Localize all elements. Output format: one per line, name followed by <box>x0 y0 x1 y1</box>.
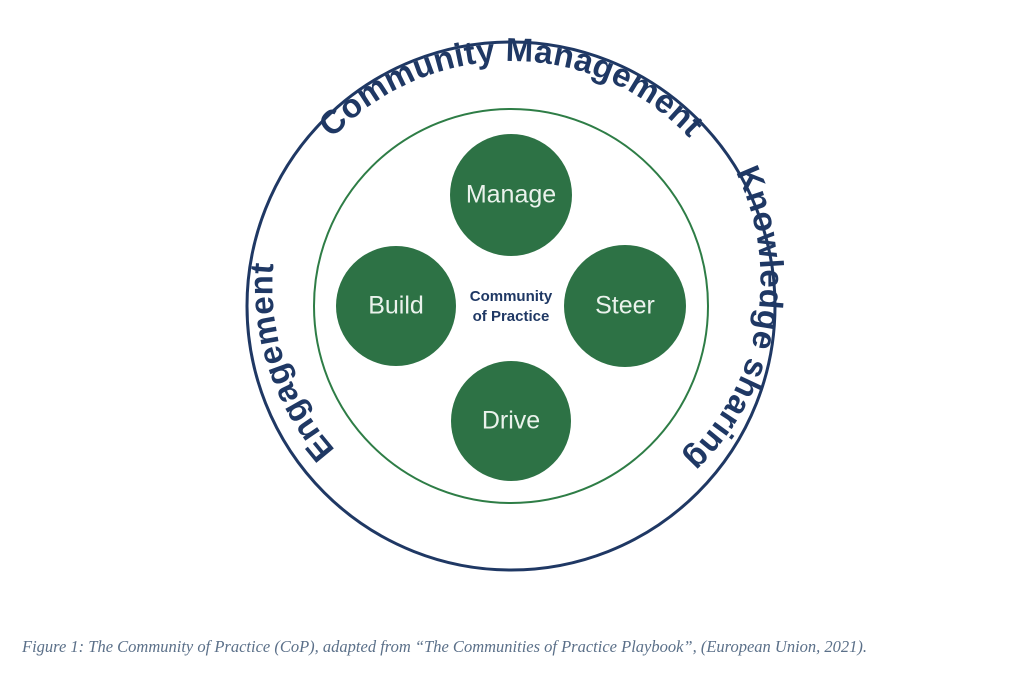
figure-container: Community Management Knowledge sharing E… <box>0 0 1024 675</box>
lobe-steer-label: Steer <box>595 292 655 320</box>
figure-caption: Figure 1: The Community of Practice (CoP… <box>22 636 1012 658</box>
lobe-build-label: Build <box>368 292 424 320</box>
ring-label-knowledge-sharing-text: Knowledge sharing <box>678 160 790 479</box>
ring-label-community-management-text: Community Management <box>311 31 711 144</box>
lobe-drive[interactable]: Drive <box>451 361 571 481</box>
center-label-line-2: of Practice <box>473 308 550 325</box>
lobe-manage[interactable]: Manage <box>450 134 572 256</box>
center-label-line-1: Community <box>470 288 553 305</box>
center-label-group: Community of Practice <box>470 288 553 325</box>
cop-diagram: Community Management Knowledge sharing E… <box>0 0 1024 675</box>
lobe-drive-label: Drive <box>482 407 540 435</box>
ring-label-community-management: Community Management <box>311 31 711 144</box>
ring-label-engagement: Engagement <box>242 261 340 469</box>
lobe-build[interactable]: Build <box>336 246 456 366</box>
lobe-manage-label: Manage <box>466 181 556 209</box>
lobe-steer[interactable]: Steer <box>564 245 686 367</box>
ring-label-knowledge-sharing: Knowledge sharing <box>678 160 790 479</box>
ring-label-engagement-text: Engagement <box>242 261 340 469</box>
